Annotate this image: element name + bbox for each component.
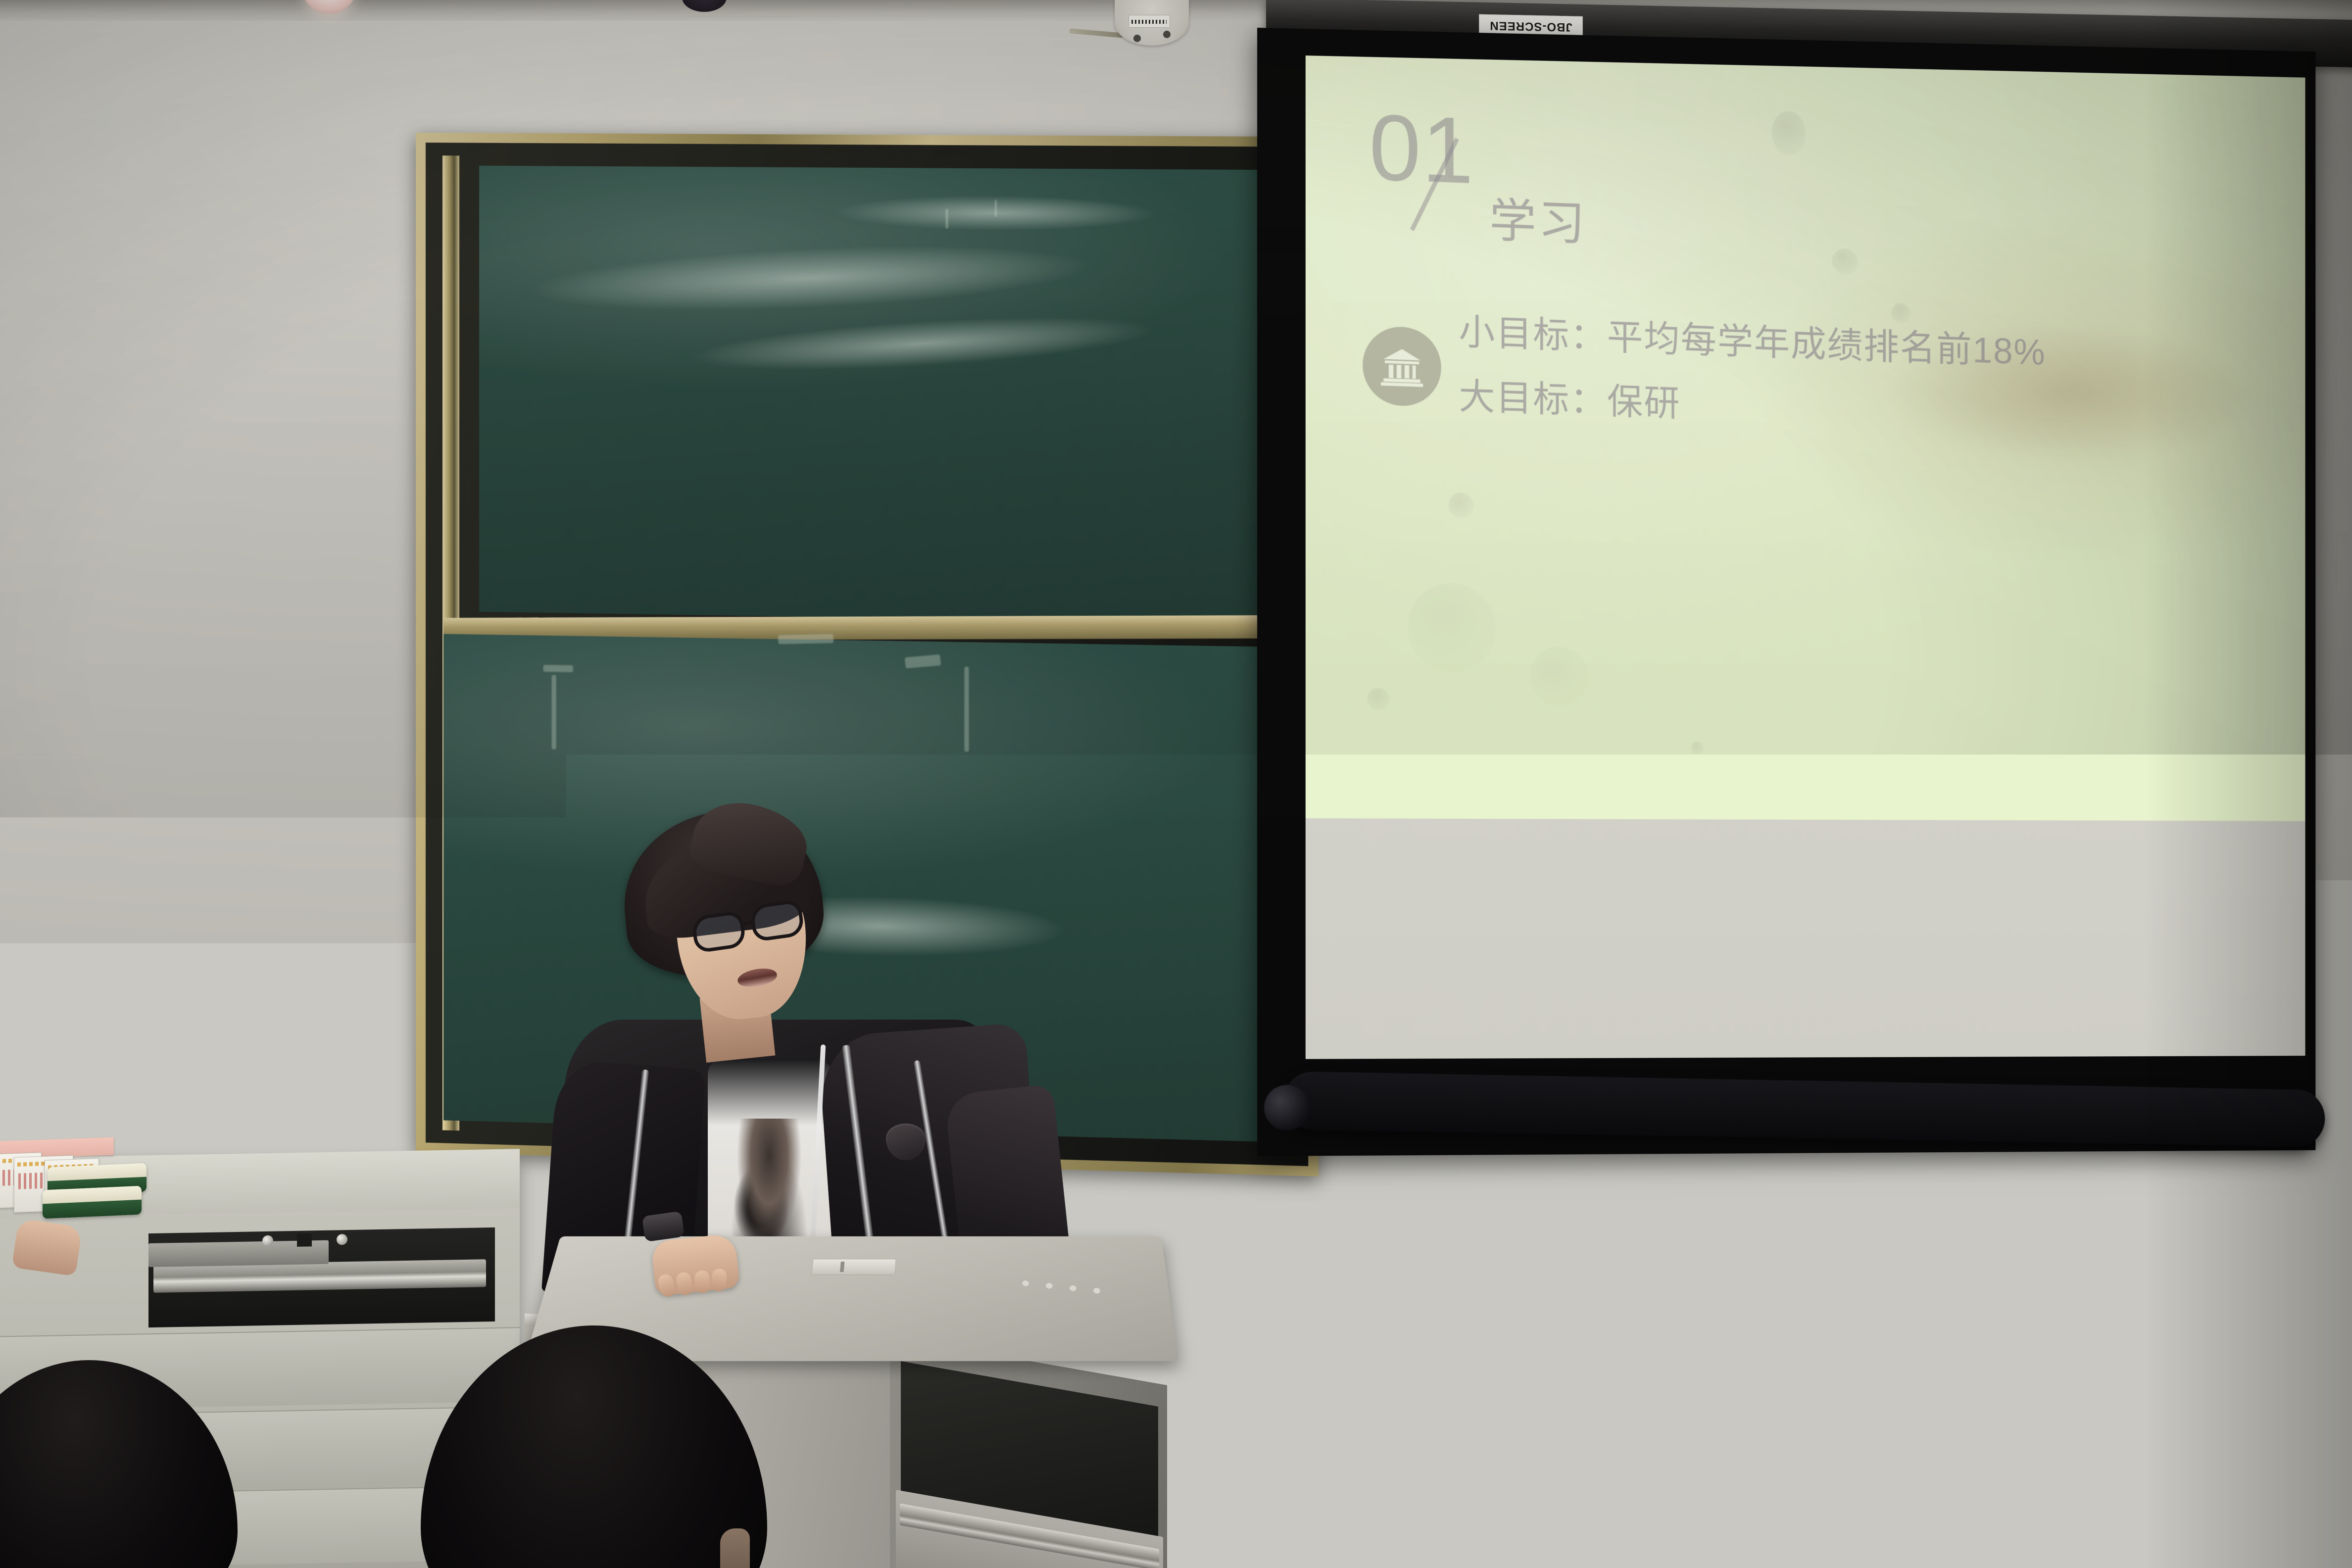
decorative-bubble (1367, 687, 1390, 711)
junction-box-label (1128, 15, 1170, 28)
decorative-bubble (1772, 110, 1806, 156)
slide-section-number: 01 (1369, 105, 1474, 194)
chalk-mark (995, 200, 997, 217)
wall-junction-box (1115, 0, 1189, 46)
slide-section-title: 学习 (1489, 182, 1587, 254)
classroom-photo-scene: JBO-SCREEN 01 (0, 0, 2352, 1568)
slide-goal-small: 小目标：平均每学年成绩排名前18% (1459, 302, 2046, 376)
decorative-bubble (1408, 582, 1496, 673)
chalk-mark (946, 209, 948, 229)
projector-screen-bar-cap (1264, 1085, 1310, 1130)
junction-box-hole (1133, 35, 1141, 42)
scene-shadow-bottom (0, 1222, 2352, 1568)
chalk-smudge (526, 236, 1094, 320)
blackboard-upper-panel (479, 166, 1290, 624)
slide-goal-big: 大目标：保研 (1459, 367, 2046, 439)
slide-goal-list: 小目标：平均每学年成绩排名前18% 大目标：保研 (1459, 302, 2046, 439)
glasses-left-lens (690, 910, 746, 954)
decorative-bubble (1449, 492, 1474, 518)
chalk-mark (905, 655, 941, 669)
chalk-mark (543, 665, 573, 672)
chalk-smudge (686, 307, 1159, 380)
chalk-mark (552, 675, 556, 749)
chalk-mark (778, 634, 833, 644)
decorative-bubble (1832, 248, 1858, 275)
junction-box-hole (1163, 31, 1171, 38)
decorative-bubble (1691, 741, 1704, 754)
bank-building-icon (1363, 326, 1442, 407)
decorative-bubble (1530, 646, 1588, 707)
chalk-mark (965, 667, 969, 752)
blackboard-eraser (43, 1186, 142, 1219)
